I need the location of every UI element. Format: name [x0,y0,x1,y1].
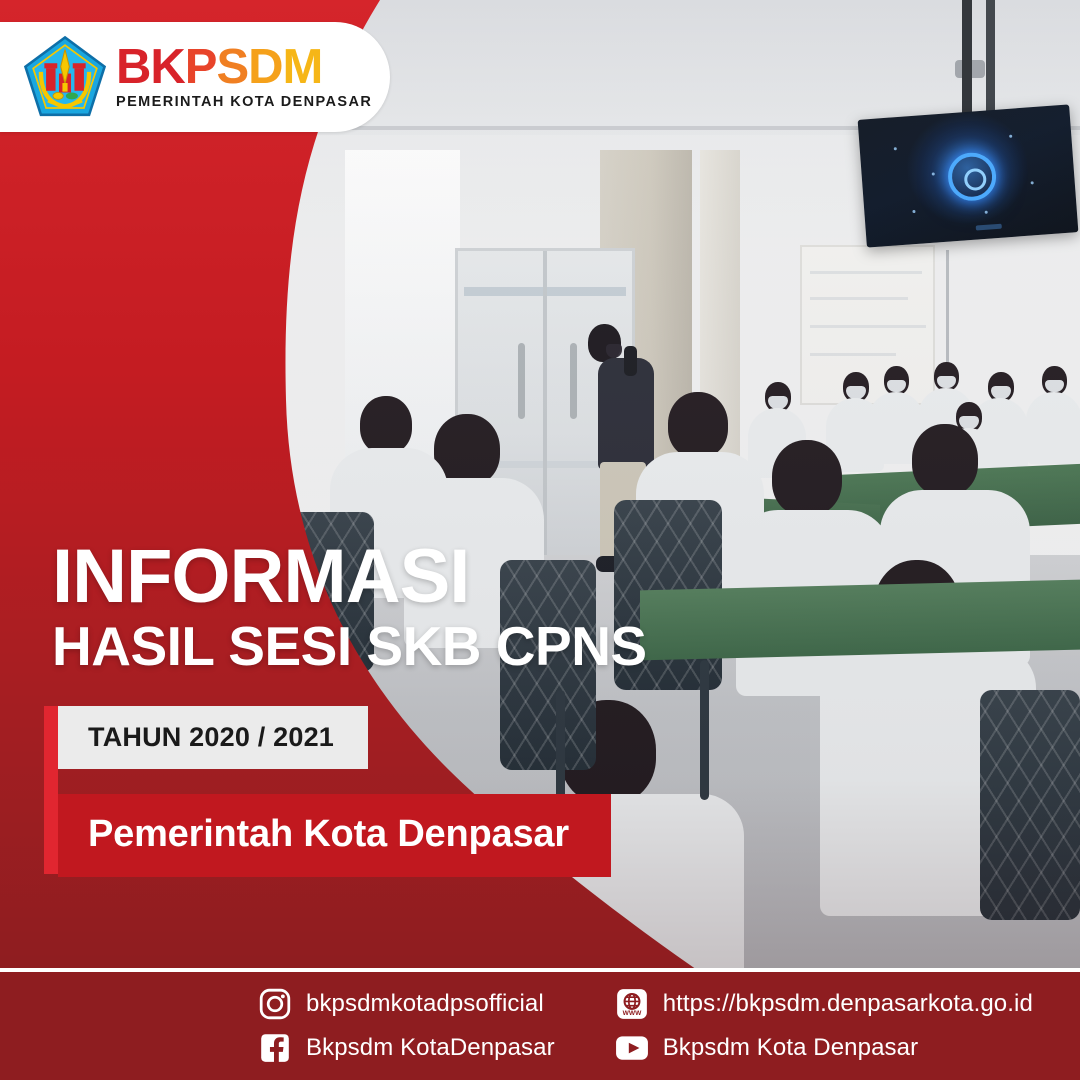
facebook-handle: Bkpsdm KotaDenpasar [306,1034,555,1062]
footer-column-web: WWW https://bkpsdm.denpasarkota.go.id Bk… [615,987,1033,1065]
website-url: https://bkpsdm.denpasarkota.go.id [663,990,1033,1018]
facebook-icon [258,1031,292,1065]
government-bar: Pemerintah Kota Denpasar [58,794,611,877]
brand-subtitle: PEMERINTAH KOTA DENPASAR [116,94,372,110]
instagram-handle: bkpsdmkotadpsofficial [306,990,544,1018]
badge-accent-bar [44,706,58,874]
footer-item-website[interactable]: WWW https://bkpsdm.denpasarkota.go.id [615,987,1033,1021]
headline-block: INFORMASI HASIL SESI SKB CPNS [52,540,692,676]
denpasar-city-emblem-icon [22,34,108,120]
footer-column-social: bkpsdmkotadpsofficial Bkpsdm KotaDenpasa… [258,987,555,1065]
brand-wordmark: BKPSDM [116,44,372,91]
footer-item-instagram[interactable]: bkpsdmkotadpsofficial [258,987,555,1021]
headline-secondary: HASIL SESI SKB CPNS [52,618,692,676]
youtube-channel: Bkpsdm Kota Denpasar [663,1034,918,1062]
government-bar-label: Pemerintah Kota Denpasar [88,813,569,856]
website-globe-icon: WWW [615,987,649,1021]
svg-text:WWW: WWW [622,1010,641,1017]
footer-bar: bkpsdmkotadpsofficial Bkpsdm KotaDenpasa… [0,972,1080,1080]
headline-primary: INFORMASI [52,540,692,614]
brand-logo-text: BKPSDM PEMERINTAH KOTA DENPASAR [116,44,372,109]
footer-item-youtube[interactable]: Bkpsdm Kota Denpasar [615,1031,1033,1065]
poster-canvas: BKPSDM PEMERINTAH KOTA DENPASAR INFORMAS… [0,0,1080,1080]
year-badge: TAHUN 2020 / 2021 [58,706,368,769]
footer-item-facebook[interactable]: Bkpsdm KotaDenpasar [258,1031,555,1065]
instagram-icon [258,987,292,1021]
brand-logo-pill: BKPSDM PEMERINTAH KOTA DENPASAR [0,22,390,132]
youtube-icon [615,1031,649,1065]
year-badge-label: TAHUN 2020 / 2021 [88,722,334,753]
